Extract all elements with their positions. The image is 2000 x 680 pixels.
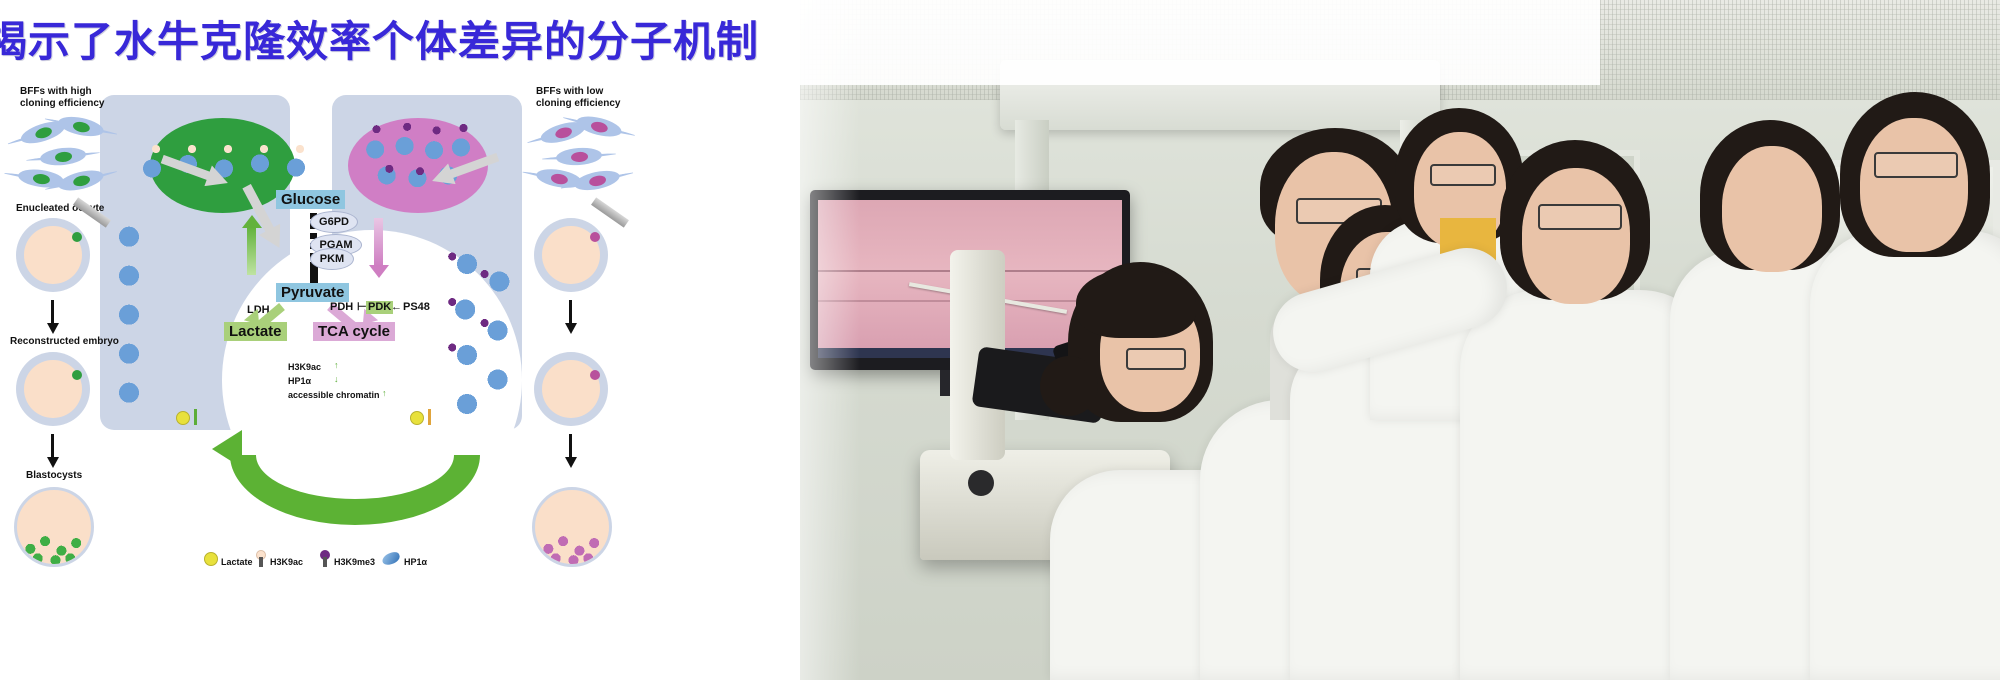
fibroblast-low-2 — [575, 113, 624, 141]
lab-team-photo — [800, 0, 2000, 680]
tca-cycle-box: TCA cycle — [313, 322, 395, 341]
legend-h3k9me3-label: H3K9me3 — [334, 557, 375, 567]
fibroblast-high-3 — [39, 146, 87, 168]
blastocyst-high — [14, 487, 94, 567]
enzyme-pkm: PKM — [310, 248, 354, 270]
lactate-arrow-left-up — [194, 409, 197, 425]
hp1a-wedges-right — [436, 246, 526, 421]
mark-hp1a-direction: ↓ — [334, 374, 339, 384]
blastocysts-label: Blastocysts — [26, 470, 82, 482]
fibroblast-high-5 — [57, 167, 106, 195]
page-root: BFFs with high cloning efficiency Enucle… — [0, 0, 2000, 680]
mark-hp1a-name: HP1α — [288, 376, 311, 386]
nucleosome-chain-open — [128, 152, 328, 182]
schematic-figure-panel: BFFs with high cloning efficiency Enucle… — [0, 0, 800, 680]
lactate-box: Lactate — [224, 322, 287, 341]
embryo-nucleus-low — [590, 370, 600, 380]
fibroblast-low-3 — [555, 146, 602, 166]
ps48-arrow-symbol: ← — [391, 301, 402, 314]
arrow-embryo-to-blastocyst — [51, 434, 54, 458]
legend-hp1a-label: HP1α — [404, 557, 427, 567]
glycolysis-up-arrow — [247, 227, 256, 275]
glucose-box: Glucose — [276, 190, 345, 209]
mark-accessible-chromatin-direction: ↑ — [382, 388, 387, 398]
lactate-dot-left — [176, 411, 190, 425]
blastocyst-low — [532, 487, 612, 567]
arrow-embryo-to-blastocyst-low — [569, 434, 572, 458]
bffs-high-label-line2: cloning efficiency — [20, 98, 104, 110]
pdk-label: PDK — [366, 301, 393, 314]
bffs-low-label-line2: cloning efficiency — [536, 98, 620, 110]
legend-hp1a-glyph — [381, 550, 402, 566]
oocyte-nucleus-low — [590, 232, 600, 242]
embryo-nucleus-high — [72, 370, 82, 380]
enucleated-oocyte-low — [534, 218, 608, 292]
bffs-high-label-line1: BFFs with high — [20, 86, 92, 98]
nucleosome-chain-left-lower — [112, 225, 146, 420]
arrow-oocyte-to-embryo-low — [569, 300, 572, 324]
page-title: 石德顺教授课题组揭示了水牛克隆效率个体差异的分子机制 — [0, 8, 800, 69]
legend-lactate-glyph — [204, 552, 218, 566]
h3k9ac-marks-open — [128, 142, 328, 156]
pyruvate-box: Pyruvate — [276, 283, 349, 302]
bffs-low-label-line1: BFFs with low — [536, 86, 603, 98]
lactate-arrow-right-down — [428, 409, 431, 425]
legend-lactate-label: Lactate — [221, 557, 253, 567]
arrow-oocyte-to-embryo — [51, 300, 54, 324]
title-banner-background — [800, 0, 1600, 85]
mark-accessible-chromatin-name: accessible chromatin — [288, 390, 380, 400]
legend-h3k9me3-glyph — [320, 550, 330, 568]
reconstructed-embryo-label: Reconstructed embryo — [10, 336, 119, 348]
micropipette-low — [591, 197, 629, 227]
legend-h3k9ac-glyph — [256, 550, 266, 568]
pdh-label: PDH — [330, 301, 353, 314]
reprogramming-cycle-arrowhead — [212, 430, 242, 468]
mark-h3k9ac-direction: ↑ — [334, 360, 339, 370]
microscope-focus-knob — [968, 470, 994, 496]
enucleated-oocyte — [16, 218, 90, 292]
oxphos-down-arrow — [374, 218, 383, 266]
ps48-label: PS48 — [403, 301, 430, 314]
legend-h3k9ac-label: H3K9ac — [270, 557, 303, 567]
reconstructed-embryo — [16, 352, 90, 426]
oocyte-nucleus-high — [72, 232, 82, 242]
fibroblast-high-2 — [57, 113, 106, 139]
fibroblast-low-5 — [573, 167, 622, 193]
reconstructed-embryo-low — [534, 352, 608, 426]
enzyme-g6pd: G6PD — [310, 211, 358, 233]
lactate-dot-right — [410, 411, 424, 425]
mark-h3k9ac-name: H3K9ac — [288, 362, 321, 372]
reprogramming-cycle-arrow — [230, 455, 480, 525]
